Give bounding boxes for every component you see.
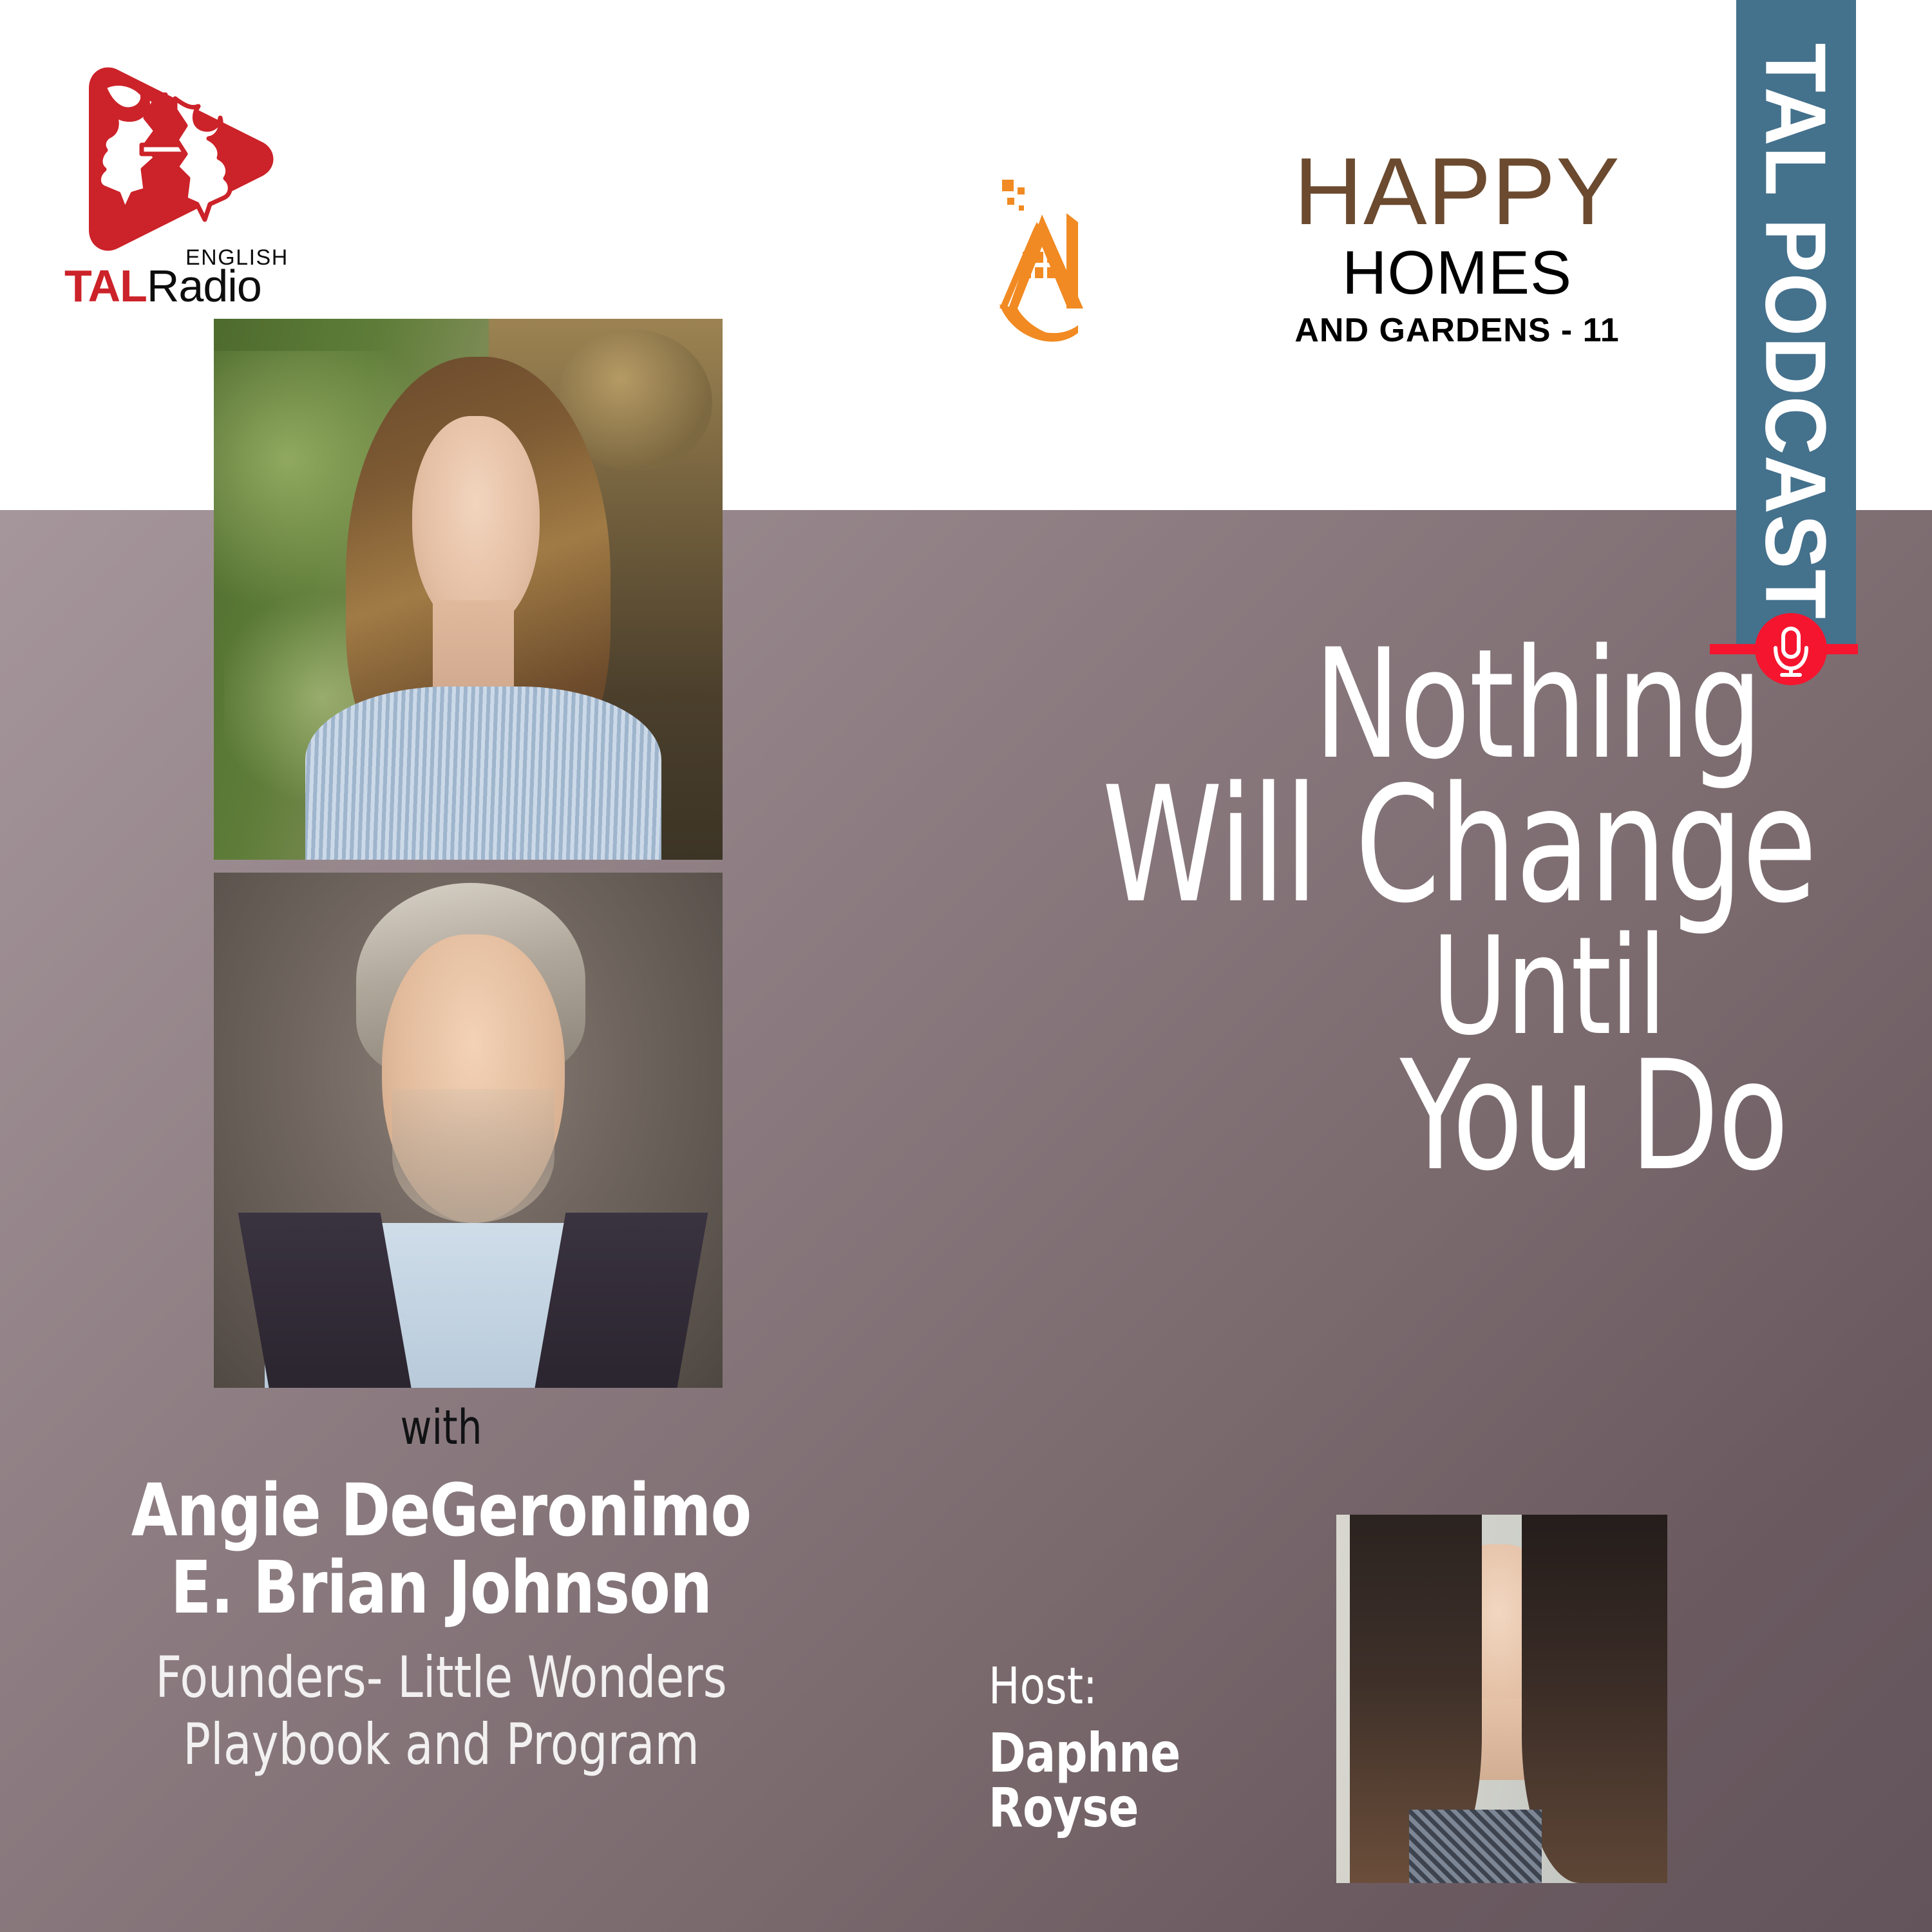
happy-homes-logo[interactable]: HAPPY HOMES AND GARDENS - 11 — [998, 145, 1694, 402]
host-name: Daphne Royse — [989, 1726, 1296, 1836]
episode-title-line-4: You Do — [885, 1043, 1816, 1191]
tal-podcast-label: TAL PODCAST — [1747, 43, 1846, 620]
brand-suffix: Radio — [147, 261, 261, 311]
show-subtitle-gardens: AND GARDENS - 11 — [1220, 312, 1694, 349]
guest-photo-angie — [214, 319, 723, 860]
tal-podcast-banner: TAL PODCAST — [1736, 0, 1856, 650]
talradio-logo[interactable]: ENGLISH TALRadio — [64, 61, 335, 306]
tal-podcast-banner-text: TAL PODCAST — [1736, 0, 1856, 650]
brand-prefix: TAL — [64, 261, 147, 311]
host-credits: Host: Daphne Royse — [989, 1662, 1323, 1836]
talradio-wordmark: ENGLISH TALRadio — [64, 247, 335, 311]
happy-homes-wordmark: HAPPY HOMES AND GARDENS - 11 — [1220, 145, 1694, 349]
guest-credits: with Angie DeGeronimo E. Brian Johnson F… — [39, 1404, 844, 1778]
host-photo-daphne — [1336, 1515, 1667, 1883]
show-title-homes: HOMES — [1220, 241, 1694, 306]
guest-role-line-1: Founders- Little Wonders — [79, 1644, 804, 1711]
podcast-cover: ENGLISH TALRadio — [0, 0, 1932, 1932]
guest-with-label: with — [79, 1404, 804, 1452]
talradio-play-figures-icon — [79, 61, 275, 254]
guest-name-secondary: E. Brian Johnson — [71, 1551, 811, 1627]
guest-role-line-2: Playbook and Program — [79, 1711, 804, 1778]
house-roof-icon — [998, 176, 1211, 369]
guest-name-primary: Angie DeGeronimo — [71, 1473, 811, 1549]
guest-photo-brian — [214, 873, 723, 1388]
talradio-brand-name: TALRadio — [64, 263, 261, 308]
host-label: Host: — [989, 1662, 1296, 1713]
show-title-happy: HAPPY — [1220, 145, 1694, 238]
episode-title-line-2: Will Change — [885, 768, 1816, 924]
episode-title: Nothing Will Change Until You Do — [721, 631, 1816, 1191]
